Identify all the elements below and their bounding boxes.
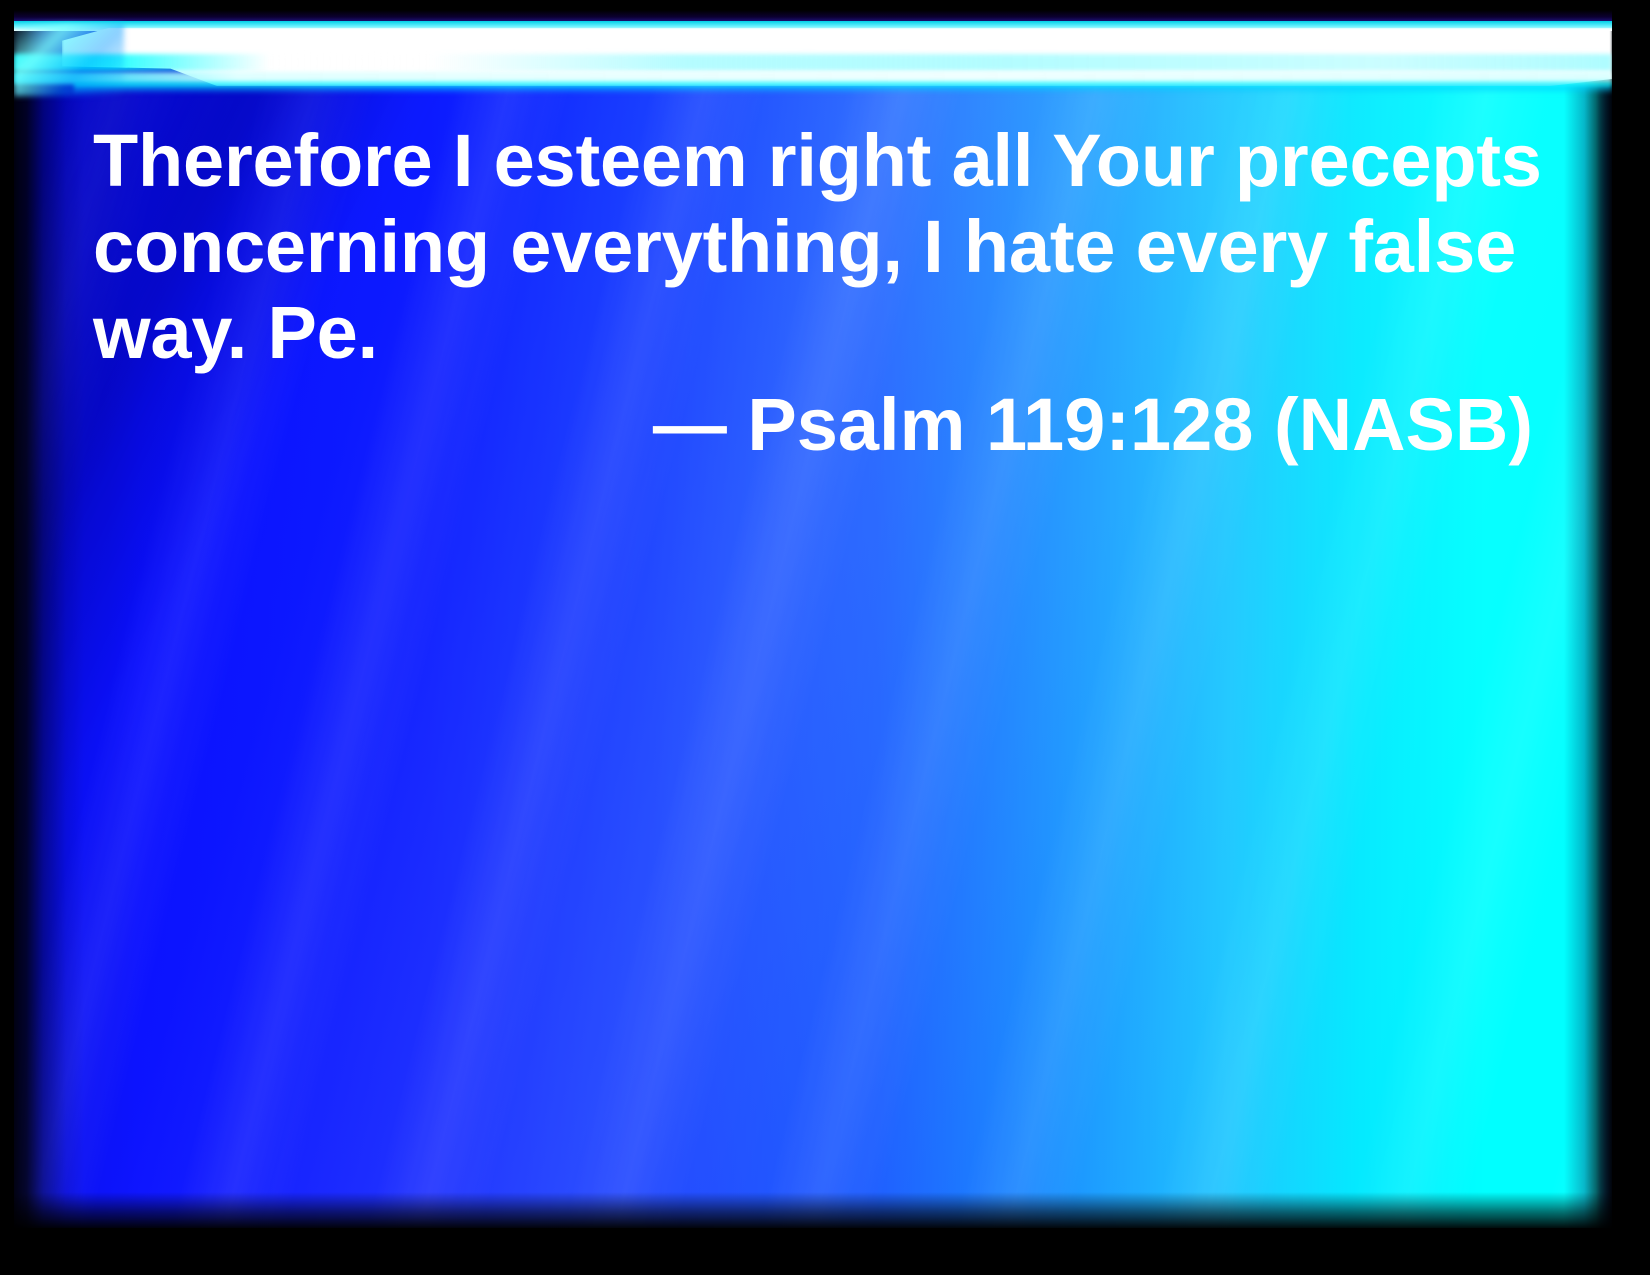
verse-attribution: — Psalm 119:128 (NASB) <box>93 382 1533 468</box>
background-edge-shade-left <box>14 10 84 1228</box>
bible-verse-slide: Therefore I esteem right all Your precep… <box>0 0 1650 1275</box>
background-edge-shade-bottom <box>14 1192 1612 1228</box>
background-edge-shade-right <box>1564 10 1612 1228</box>
attribution-prefix: — Psalm 119:128 (NASB <box>653 383 1509 466</box>
top-band-dark-edge <box>14 10 1612 21</box>
top-band-cyan-streak <box>14 54 1612 71</box>
top-band-left-wedge <box>14 24 124 96</box>
verse-line-2: concerning everything, I hate every fals… <box>93 204 1523 290</box>
top-glow-band <box>14 10 1612 100</box>
slide-stage: Therefore I esteem right all Your precep… <box>14 10 1612 1228</box>
attribution-suffix: ) <box>1508 383 1533 466</box>
verse-text-block: Therefore I esteem right all Your precep… <box>93 118 1523 376</box>
top-band-bottom-glow <box>74 82 1612 94</box>
verse-line-3: way. Pe. <box>93 290 1523 376</box>
verse-line-1: Therefore I esteem right all Your precep… <box>93 118 1523 204</box>
